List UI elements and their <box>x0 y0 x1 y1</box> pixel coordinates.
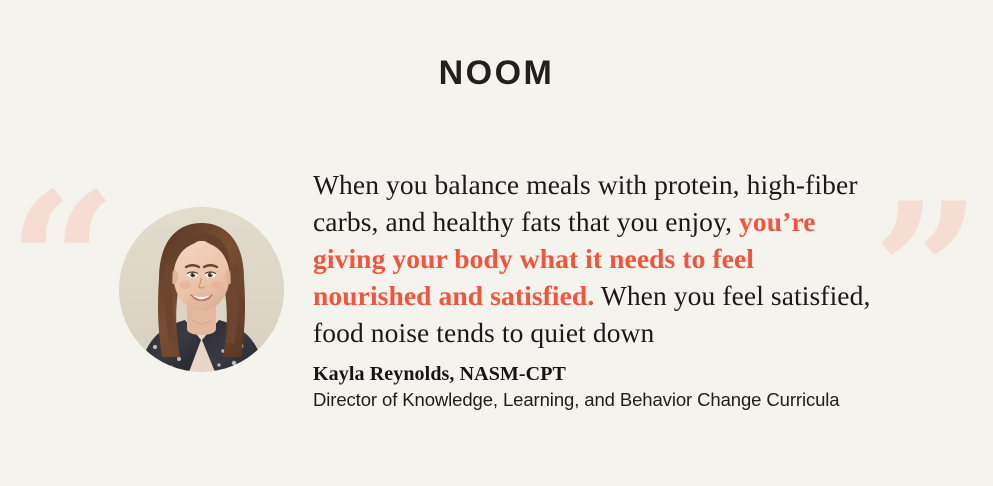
attribution-role: Director of Knowledge, Learning, and Beh… <box>313 387 933 413</box>
noom-logo: NOOM <box>0 56 993 90</box>
attribution: Kayla Reynolds, NASM-CPT Director of Kno… <box>313 361 933 413</box>
portrait-photo <box>119 207 284 372</box>
quote-text: When you balance meals with protein, hig… <box>313 166 873 351</box>
testimonial-card: NOOM “ ” <box>0 0 993 486</box>
opening-quote-icon: “ <box>8 168 117 358</box>
quote-block: When you balance meals with protein, hig… <box>313 166 873 351</box>
attribution-name: Kayla Reynolds, NASM-CPT <box>313 361 933 387</box>
avatar <box>119 207 284 372</box>
closing-quote-icon: ” <box>872 178 981 368</box>
